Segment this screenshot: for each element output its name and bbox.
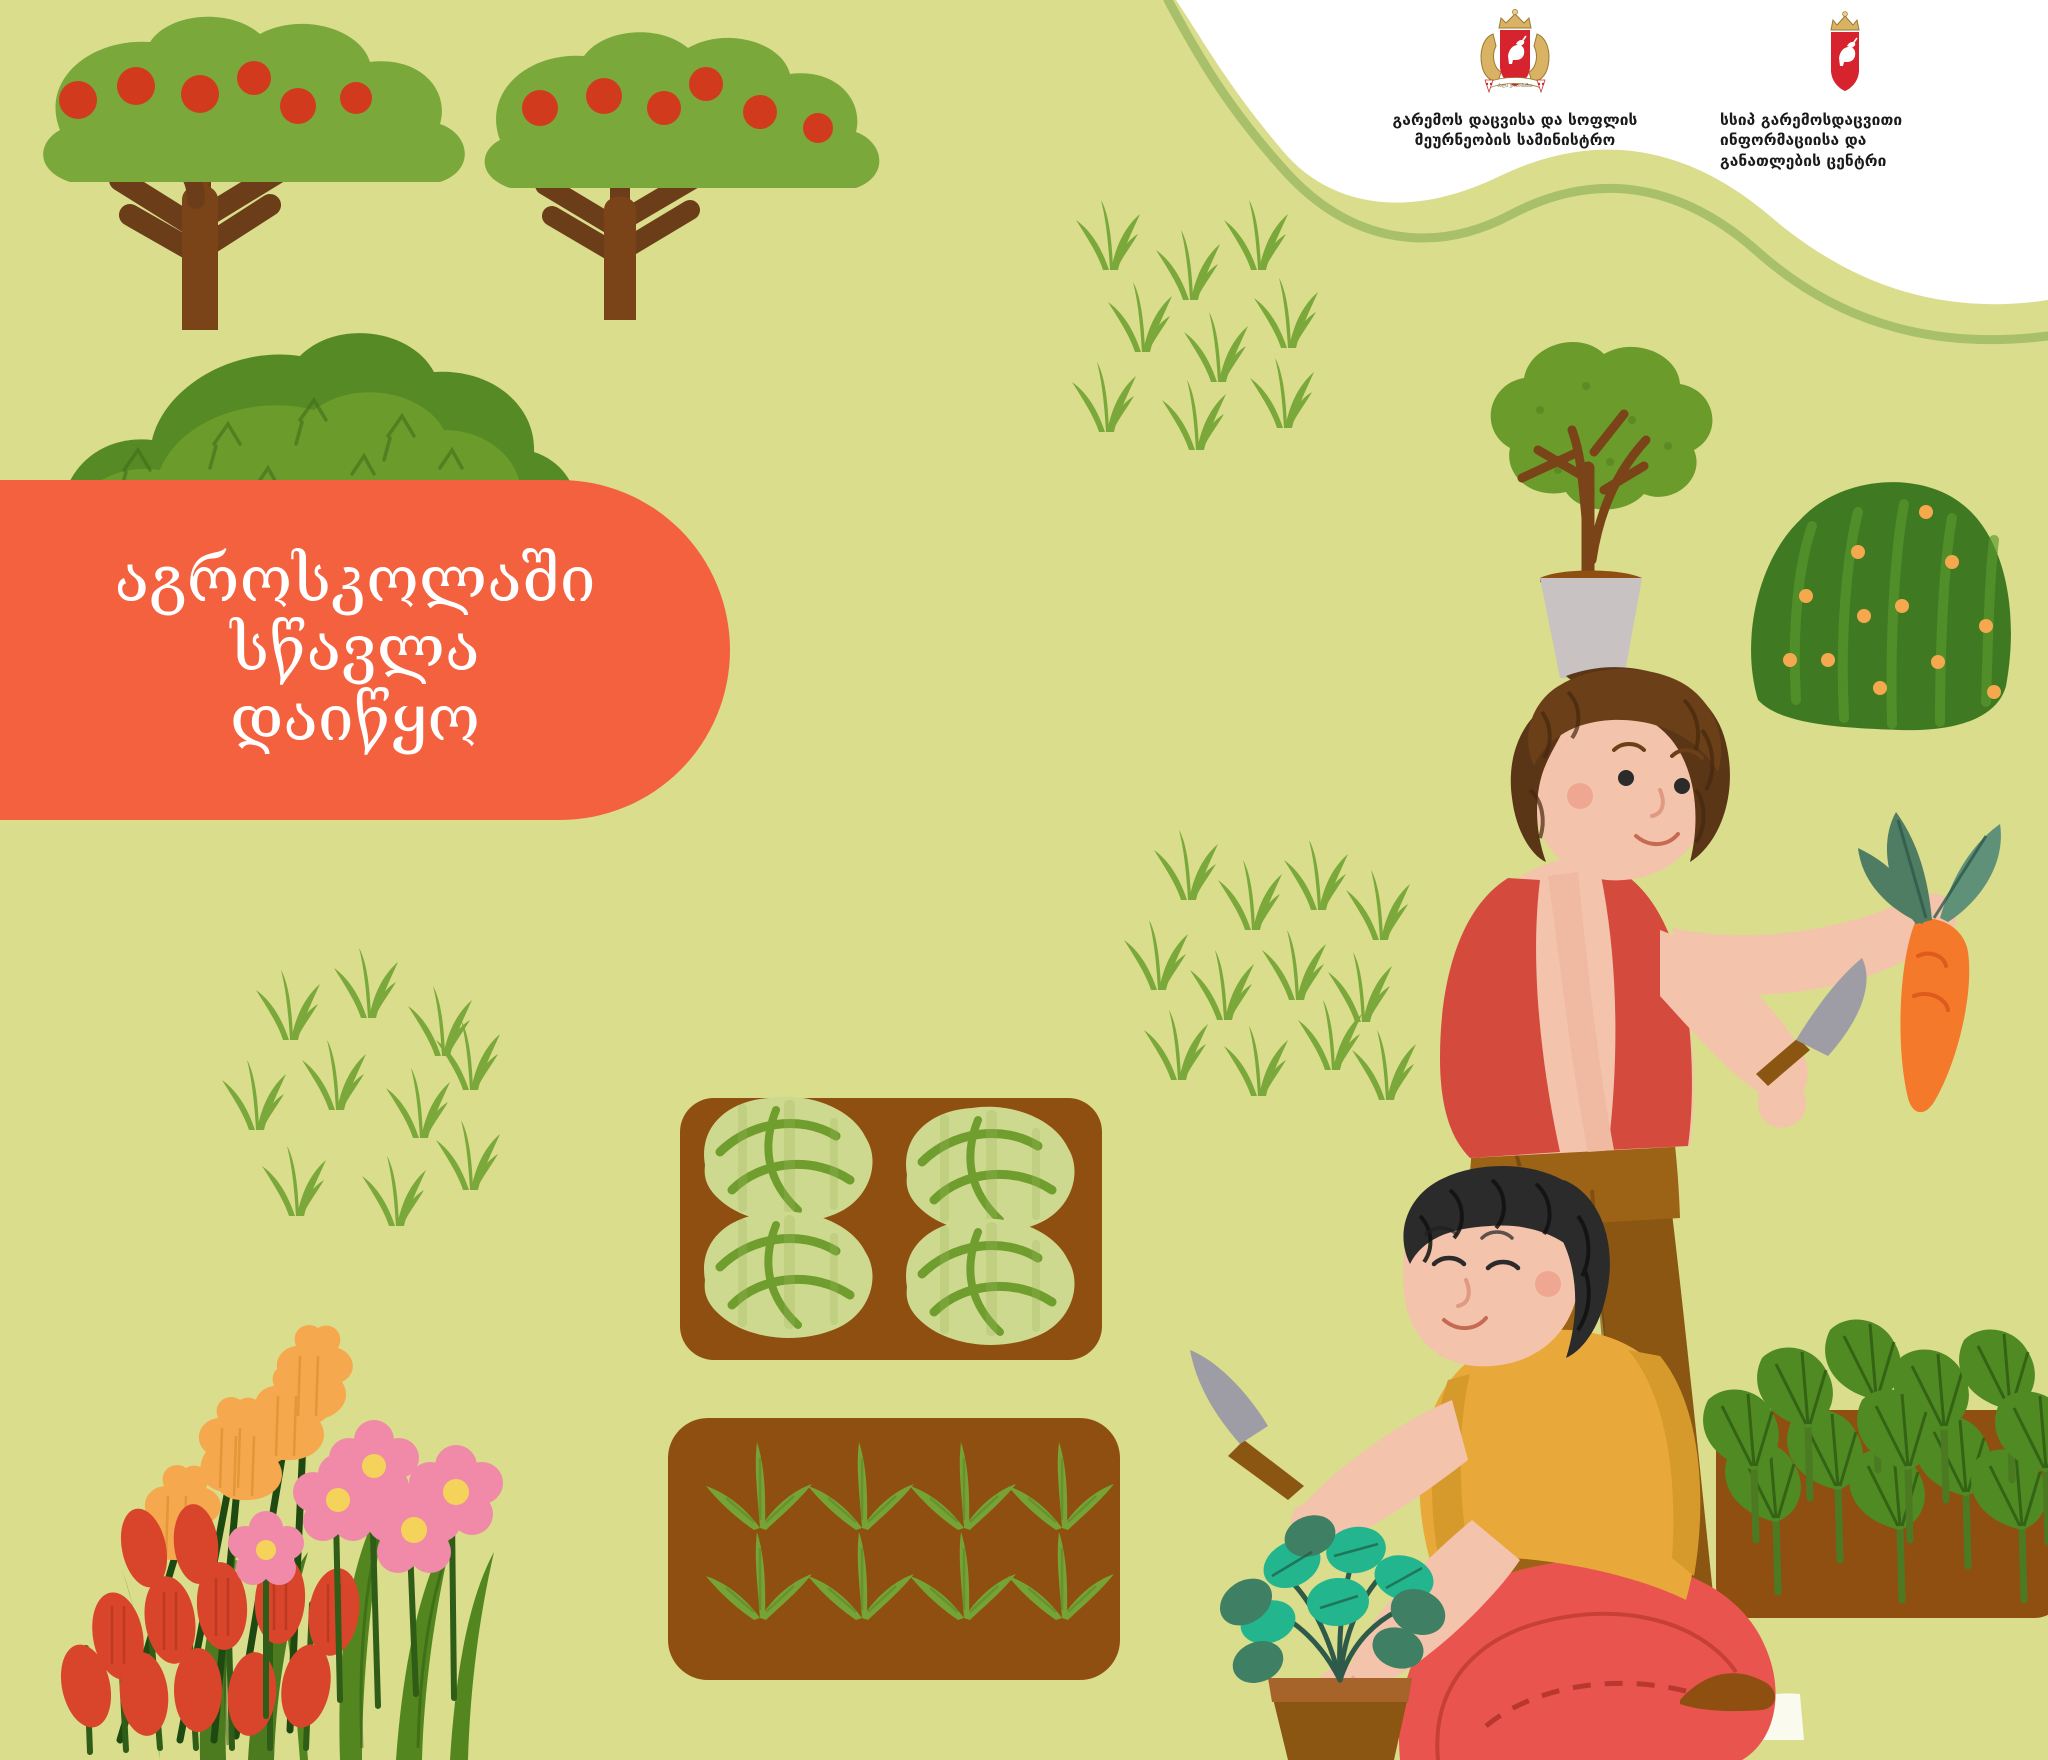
center-logo-label: სსიპ გარემოსდაცვითი ინფორმაციისა და განა…	[1720, 110, 1970, 171]
georgia-small-coat-of-arms-icon	[1816, 8, 1874, 100]
headline-line-2: სწავლა	[230, 615, 479, 684]
headline-banner: აგროსკოლაში სწავლა დაიწყო	[0, 480, 730, 820]
head-kneeling	[1403, 1166, 1610, 1366]
logo-bar: ძალა ერთობაშია გარემოს დაცვისა და სოფლის…	[1380, 0, 2040, 208]
center-logo: სსიპ გარემოსდაცვითი ინფორმაციისა და განა…	[1720, 8, 1970, 171]
ministry-logo-label: გარემოს დაცვისა და სოფლის მეურნეობის სამ…	[1393, 110, 1638, 151]
illustration-scene	[0, 0, 2048, 1760]
seedling-garden-bed	[668, 1418, 1120, 1680]
ministry-logo: ძალა ერთობაშია გარემოს დაცვისა და სოფლის…	[1380, 8, 1650, 151]
georgia-greater-coat-of-arms-icon: ძალა ერთობაშია	[1469, 8, 1561, 100]
poster-canvas: აგროსკოლაში სწავლა დაიწყო	[0, 0, 2048, 1760]
headline-line-1: აგროსკოლაში	[114, 546, 595, 615]
cabbage-garden-bed	[680, 1097, 1102, 1360]
svg-text:ძალა ერთობაშია: ძალა ერთობაშია	[1497, 83, 1532, 88]
headline-line-3: დაიწყო	[230, 685, 480, 754]
